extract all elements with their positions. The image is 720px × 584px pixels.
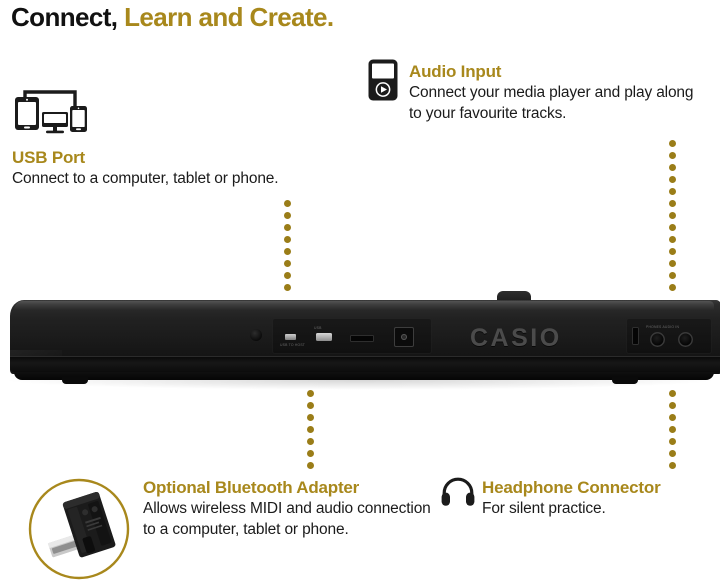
audio-in-jack [678, 332, 693, 347]
leader-dot [307, 402, 314, 409]
leader-dot [669, 212, 676, 219]
phones-output-jack [650, 332, 665, 347]
audio-input-leader [669, 140, 677, 296]
leader-dot [669, 272, 676, 279]
leader-dot [307, 450, 314, 457]
page-title: Connect, Learn and Create. [11, 0, 334, 34]
pedal-slot-port [350, 335, 374, 342]
casio-keyboard-rear-panel: USB TO HOST USB CASIO PHONES AUDIO IN [0, 296, 720, 392]
bluetooth-dongle-photo [27, 477, 131, 581]
leader-dot [669, 260, 676, 267]
keyboard-base [14, 372, 714, 380]
leader-dot [307, 462, 314, 469]
keyboard-port-panel-right: PHONES AUDIO IN [626, 318, 712, 354]
leader-dot [669, 450, 676, 457]
keyboard-screw-hole [250, 329, 262, 341]
callout-headphone-connector-body: For silent practice. [482, 498, 720, 519]
keyboard-front-lip [10, 356, 720, 372]
leader-dot [669, 426, 676, 433]
callout-headphone-connector: Headphone Connector For silent practice. [482, 477, 720, 519]
leader-dot [669, 438, 676, 445]
leader-dot [284, 284, 291, 291]
bluetooth-leader [307, 390, 315, 476]
leader-dot [669, 462, 676, 469]
leader-dot [669, 152, 676, 159]
leader-dot [307, 390, 314, 397]
leader-dot [284, 236, 291, 243]
callout-headphone-connector-heading: Headphone Connector [482, 477, 720, 498]
page-title-black: Connect, [11, 2, 117, 32]
leader-dot [307, 414, 314, 421]
callout-usb-port: USB Port Connect to a computer, tablet o… [12, 147, 352, 189]
leader-dot [284, 248, 291, 255]
leader-dot [669, 188, 676, 195]
leader-dot [669, 140, 676, 147]
leader-dot [669, 200, 676, 207]
leader-dot [669, 176, 676, 183]
casio-logo: CASIO [470, 324, 562, 353]
keyboard-port-panel-left: USB TO HOST USB [272, 318, 432, 354]
usb-to-host-label: USB TO HOST [280, 343, 305, 347]
devices-icon [12, 86, 90, 136]
callout-audio-input-heading: Audio Input [409, 61, 709, 82]
leader-dot [669, 224, 676, 231]
leader-dot [307, 426, 314, 433]
callout-usb-port-heading: USB Port [12, 147, 352, 168]
dc-power-jack [394, 327, 414, 347]
media-player-icon [368, 59, 398, 101]
page-title-gold: Learn and Create. [124, 2, 333, 32]
leader-dot [669, 164, 676, 171]
leader-dot [669, 414, 676, 421]
usb-to-host-port [285, 334, 296, 340]
usb-type-a-label: USB [314, 326, 322, 330]
headphones-icon [441, 477, 475, 507]
right-panel-label: PHONES AUDIO IN [646, 325, 679, 329]
leader-dot [284, 200, 291, 207]
callout-bluetooth-adapter-body: Allows wireless MIDI and audio connectio… [143, 498, 443, 540]
usb-type-a-port [316, 333, 332, 341]
callout-usb-port-body: Connect to a computer, tablet or phone. [12, 168, 352, 189]
callout-audio-input-body: Connect your media player and play along… [409, 82, 709, 124]
sustain-slot-port [632, 327, 639, 345]
leader-dot [307, 438, 314, 445]
leader-dot [284, 272, 291, 279]
leader-dot [284, 260, 291, 267]
leader-dot [669, 284, 676, 291]
callout-bluetooth-adapter: Optional Bluetooth Adapter Allows wirele… [143, 477, 443, 540]
leader-dot [669, 236, 676, 243]
usb-port-leader [284, 200, 292, 296]
headphone-leader [669, 390, 677, 476]
callout-bluetooth-adapter-heading: Optional Bluetooth Adapter [143, 477, 443, 498]
callout-audio-input: Audio Input Connect your media player an… [409, 61, 709, 124]
keyboard-drop-shadow [0, 380, 720, 390]
leader-dot [669, 248, 676, 255]
keyboard-top-highlight [14, 301, 714, 310]
leader-dot [669, 390, 676, 397]
leader-dot [669, 402, 676, 409]
infographic-page: Connect, Learn and Create. [0, 0, 720, 584]
leader-dot [284, 224, 291, 231]
leader-dot [284, 212, 291, 219]
